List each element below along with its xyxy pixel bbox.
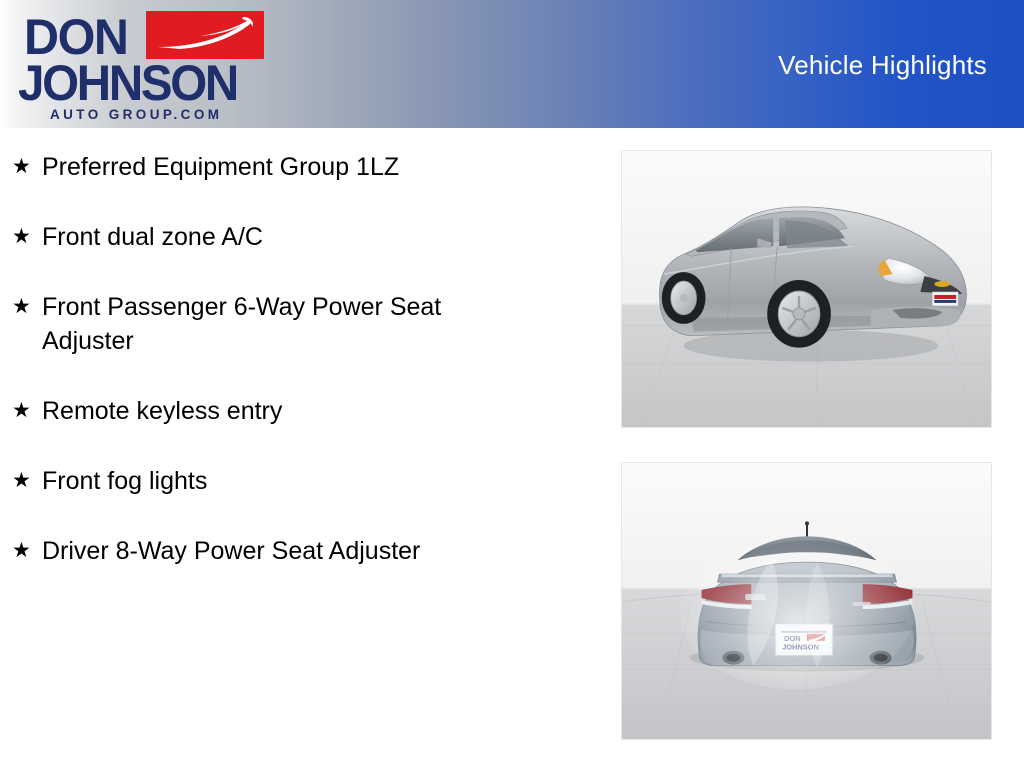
page-header: DON JOHNSON AUTO GROUP.COM Vehicle Highl… (0, 0, 1024, 128)
page-title: Vehicle Highlights (778, 50, 987, 81)
logo-swoosh-icon (146, 11, 264, 59)
list-item: ★ Driver 8-Way Power Seat Adjuster (0, 534, 600, 568)
star-bullet-icon: ★ (12, 464, 42, 498)
star-bullet-icon: ★ (12, 394, 42, 428)
feature-label: Remote keyless entry (42, 394, 532, 428)
star-bullet-icon: ★ (12, 290, 42, 324)
vehicle-photo-front-three-quarter[interactable] (621, 150, 992, 428)
list-item: ★ Preferred Equipment Group 1LZ (0, 150, 600, 184)
logo-text-line2: JOHNSON (18, 58, 237, 108)
list-item: ★ Front dual zone A/C (0, 220, 600, 254)
feature-label: Preferred Equipment Group 1LZ (42, 150, 532, 184)
list-item: ★ Remote keyless entry (0, 394, 600, 428)
star-bullet-icon: ★ (12, 220, 42, 254)
feature-label: Front fog lights (42, 464, 532, 498)
vehicle-features-list: ★ Preferred Equipment Group 1LZ ★ Front … (0, 128, 600, 604)
dealer-logo[interactable]: DON JOHNSON AUTO GROUP.COM (12, 4, 262, 126)
page-content: ★ Preferred Equipment Group 1LZ ★ Front … (0, 128, 1024, 768)
star-bullet-icon: ★ (12, 534, 42, 568)
feature-label: Driver 8-Way Power Seat Adjuster (42, 534, 532, 568)
star-bullet-icon: ★ (12, 150, 42, 184)
vehicle-photo-rear[interactable]: DON JOHNSON (621, 462, 992, 740)
feature-label: Front dual zone A/C (42, 220, 532, 254)
logo-tagline: AUTO GROUP.COM (50, 108, 222, 122)
feature-label: Front Passenger 6-Way Power Seat Adjuste… (42, 290, 532, 358)
list-item: ★ Front fog lights (0, 464, 600, 498)
list-item: ★ Front Passenger 6-Way Power Seat Adjus… (0, 290, 600, 358)
